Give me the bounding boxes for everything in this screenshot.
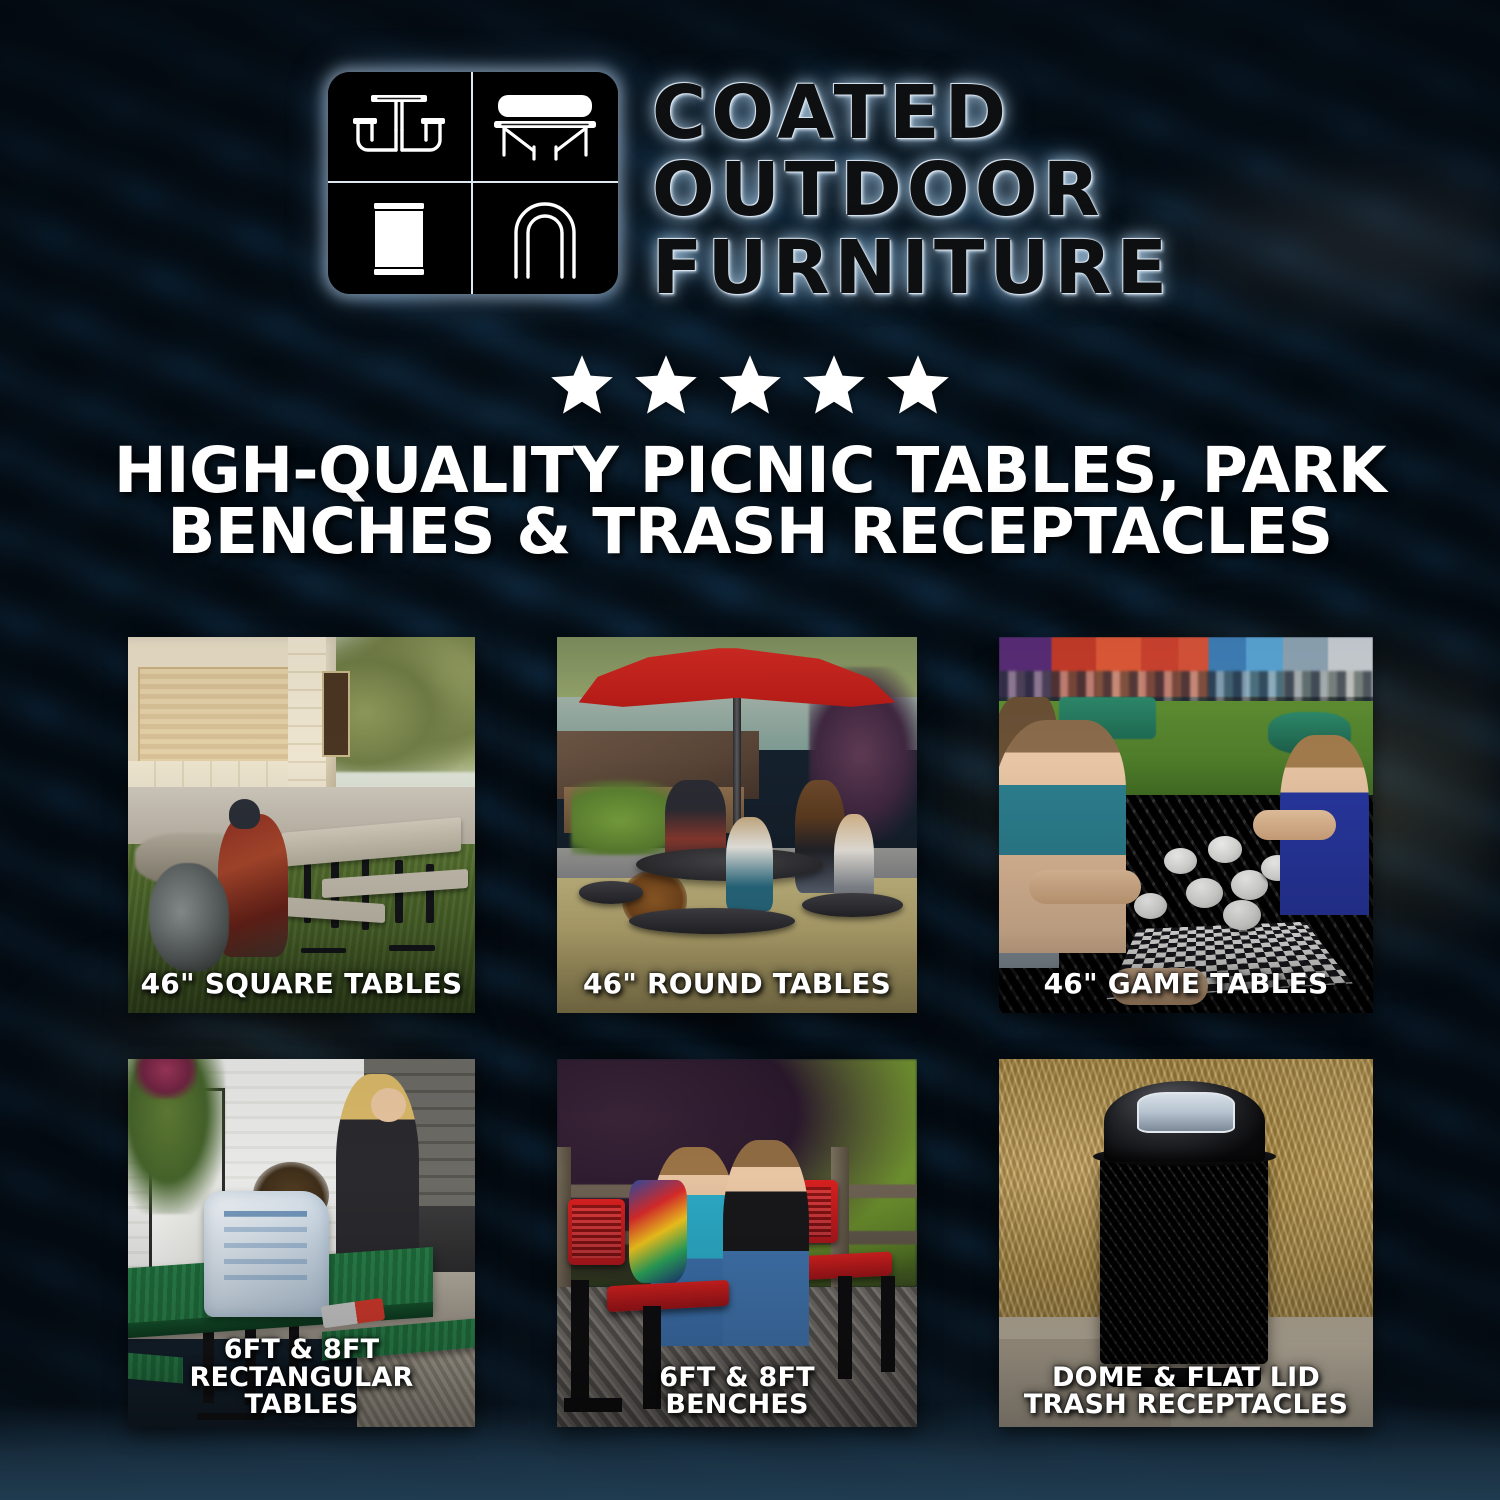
promo-banner: COATED OUTDOOR FURNITURE HIGH-QUALITY PI… xyxy=(0,0,1500,1500)
star-icon xyxy=(633,352,699,418)
product-caption-benches: 6FT & 8FT BENCHES xyxy=(557,1364,917,1419)
bike-rack-icon xyxy=(473,183,618,294)
product-tile-game-tables[interactable]: 46" GAME TABLES xyxy=(999,637,1373,1013)
star-icon xyxy=(885,352,951,418)
headline-line-2: BENCHES & TRASH RECEPTACLES xyxy=(60,501,1440,562)
product-caption-round-tables: 46" ROUND TABLES xyxy=(557,970,917,999)
caption-line: 46" ROUND TABLES xyxy=(563,970,911,999)
caption-line: 46" GAME TABLES xyxy=(1005,970,1367,999)
product-tile-benches[interactable]: 6FT & 8FT BENCHES xyxy=(557,1059,917,1427)
brand-wordmark: COATED OUTDOOR FURNITURE xyxy=(652,72,1172,306)
product-caption-square-tables: 46" SQUARE TABLES xyxy=(128,970,475,999)
caption-line: 6FT & 8FT xyxy=(563,1364,911,1392)
trash-receptacle-icon xyxy=(328,183,473,294)
product-grid: 46" SQUARE TABLES xyxy=(128,637,1373,1427)
product-photo-round-tables xyxy=(557,637,917,1013)
product-photo-square-tables xyxy=(128,637,475,1013)
headline-line-1: HIGH-QUALITY PICNIC TABLES, PARK xyxy=(60,440,1440,501)
product-tile-round-tables[interactable]: 46" ROUND TABLES xyxy=(557,637,917,1013)
star-rating xyxy=(0,352,1500,418)
product-caption-trash-receptacles: DOME & FLAT LID TRASH RECEPTACLES xyxy=(999,1364,1373,1419)
product-tile-trash-receptacles[interactable]: DOME & FLAT LID TRASH RECEPTACLES xyxy=(999,1059,1373,1427)
wordmark-line-1: COATED xyxy=(652,76,1172,151)
wordmark-line-2: OUTDOOR xyxy=(652,153,1172,228)
caption-line: 46" SQUARE TABLES xyxy=(134,970,469,999)
product-caption-rectangular-tables: 6FT & 8FT RECTANGULAR TABLES xyxy=(128,1336,475,1419)
caption-line: RECTANGULAR TABLES xyxy=(134,1364,469,1419)
product-tile-rectangular-tables[interactable]: 6FT & 8FT RECTANGULAR TABLES xyxy=(128,1059,475,1427)
logo-icon-grid xyxy=(328,72,618,294)
star-icon xyxy=(549,352,615,418)
product-caption-game-tables: 46" GAME TABLES xyxy=(999,970,1373,999)
headline: HIGH-QUALITY PICNIC TABLES, PARK BENCHES… xyxy=(0,440,1500,562)
caption-line: 6FT & 8FT xyxy=(134,1336,469,1364)
star-icon xyxy=(717,352,783,418)
star-icon xyxy=(801,352,867,418)
caption-line: DOME & FLAT LID xyxy=(1005,1364,1367,1392)
wordmark-line-3: FURNITURE xyxy=(652,231,1172,306)
caption-line: BENCHES xyxy=(563,1391,911,1419)
product-photo-game-tables xyxy=(999,637,1373,1013)
caption-line: TRASH RECEPTACLES xyxy=(1005,1391,1367,1419)
bench-icon xyxy=(473,72,618,183)
picnic-table-icon xyxy=(328,72,473,183)
product-tile-square-tables[interactable]: 46" SQUARE TABLES xyxy=(128,637,475,1013)
brand-logo: COATED OUTDOOR FURNITURE xyxy=(0,72,1500,306)
